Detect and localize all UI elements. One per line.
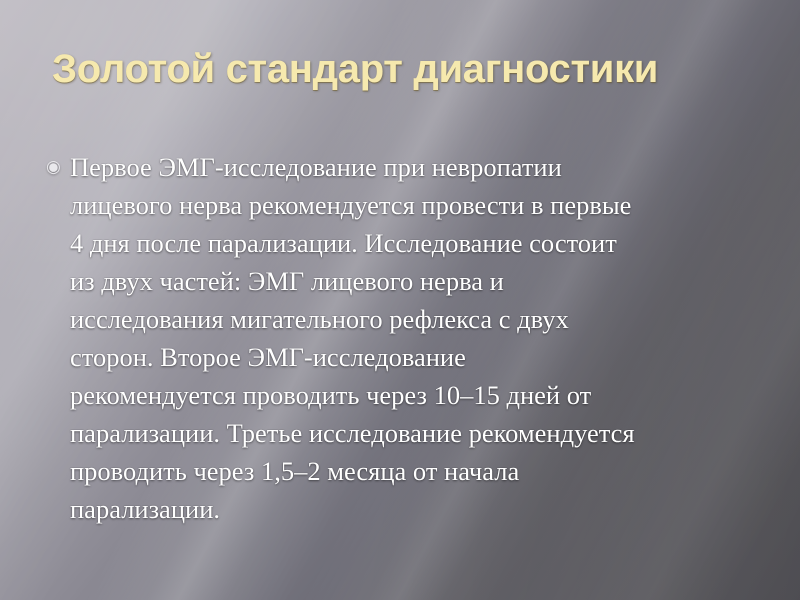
slide-body: ◉ Первое ЭМГ-исследование при невропатии… — [36, 148, 766, 528]
body-line-3: 4 дня после парализации. Исследование со… — [70, 224, 766, 262]
body-line-5: исследования мигательного рефлекса с дву… — [70, 300, 766, 338]
circled-dot-bullet-icon: ◉ — [36, 148, 70, 186]
body-line-8: парализации. Третье исследование рекомен… — [70, 414, 766, 452]
bullet-item-text: Первое ЭМГ-исследование при невропатии л… — [70, 148, 766, 528]
body-line-10: парализации. — [70, 490, 766, 528]
body-line-6: сторон. Второе ЭМГ-исследование — [70, 338, 766, 376]
body-line-7: рекомендуется проводить через 10–15 дней… — [70, 376, 766, 414]
bullet-list-item: ◉ Первое ЭМГ-исследование при невропатии… — [36, 148, 766, 528]
presentation-slide: Золотой стандарт диагностики ◉ Первое ЭМ… — [0, 0, 800, 600]
slide-title: Золотой стандарт диагностики — [52, 44, 782, 94]
body-line-9: проводить через 1,5–2 месяца от начала — [70, 452, 766, 490]
body-line-2: лицевого нерва рекомендуется провести в … — [70, 186, 766, 224]
body-line-1: Первое ЭМГ-исследование при невропатии — [70, 148, 766, 186]
body-line-4: из двух частей: ЭМГ лицевого нерва и — [70, 262, 766, 300]
